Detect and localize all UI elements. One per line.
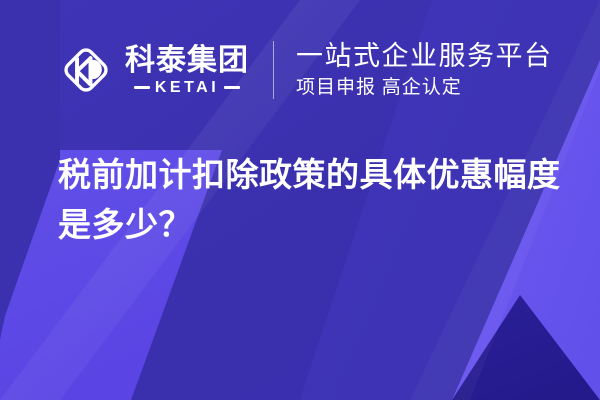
logo-english-name: KETAI — [155, 79, 219, 96]
logo-wordmark: 科泰集团 KETAI — [125, 45, 249, 96]
logo-chinese-name: 科泰集团 — [125, 45, 249, 77]
tagline-primary: 一站式企业服务平台 — [296, 40, 553, 73]
page-title: 税前加计扣除政策的具体优惠幅度是多少？ — [58, 150, 568, 250]
tagline-secondary: 项目申报 高企认定 — [296, 75, 553, 100]
title-container: 税前加计扣除政策的具体优惠幅度是多少？ — [58, 150, 568, 250]
promo-banner: 科泰集团 KETAI 一站式企业服务平台 项目申报 高企认定 税前加计扣除政策的… — [0, 0, 600, 400]
logo-rule-right — [224, 86, 240, 89]
logo-english-row: KETAI — [125, 79, 249, 96]
logo-rule-left — [134, 86, 150, 89]
ketai-diamond-kp-monogram-icon — [58, 42, 114, 98]
header-divider — [273, 41, 274, 99]
banner-header: 科泰集团 KETAI 一站式企业服务平台 项目申报 高企认定 — [0, 0, 600, 140]
brand-logo[interactable]: 科泰集团 KETAI — [58, 42, 249, 98]
header-tagline: 一站式企业服务平台 项目申报 高企认定 — [296, 40, 553, 100]
